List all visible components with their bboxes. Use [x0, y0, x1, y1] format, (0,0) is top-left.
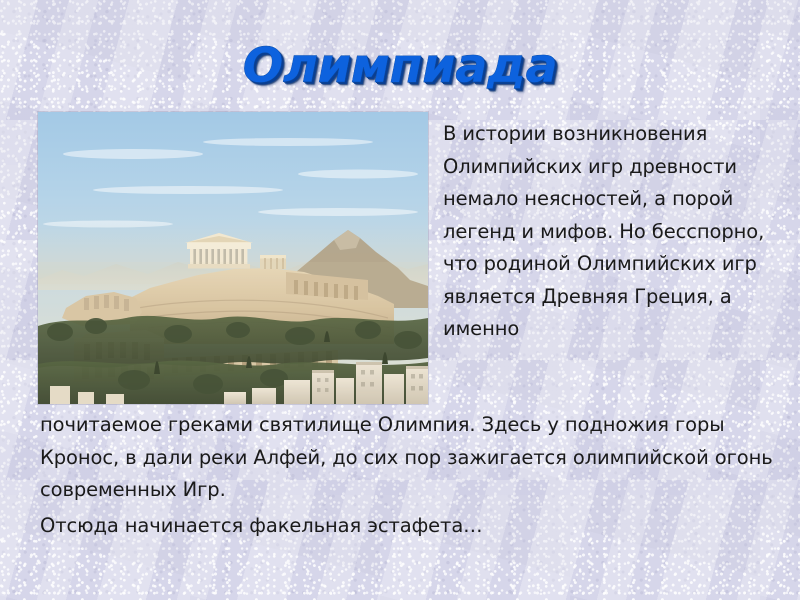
- acropolis-photo-graphic: [38, 112, 428, 404]
- paragraph-beside-photo: В истории возникновения Олимпийских игр …: [443, 118, 795, 346]
- paragraph-full-width: почитаемое греками святилище Олимпия. Зд…: [40, 409, 792, 507]
- paragraph-closing: Отсюда начинается факельная эстафета…: [40, 510, 792, 543]
- acropolis-photo: [38, 112, 428, 404]
- presentation-slide: Олимпиада: [0, 0, 800, 600]
- slide-title: Олимпиада: [0, 38, 800, 94]
